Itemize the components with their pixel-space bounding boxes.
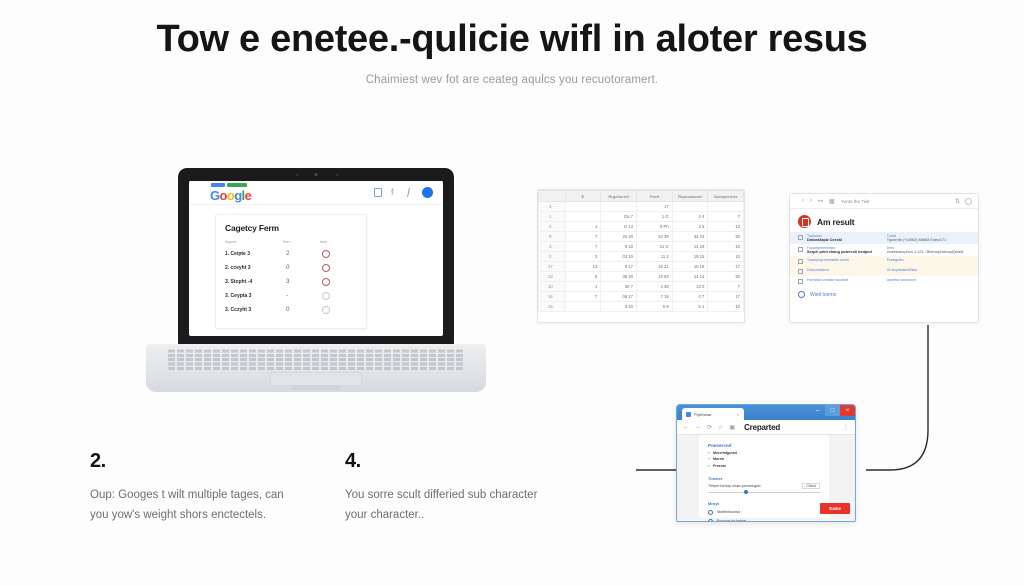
panel-row[interactable]: FococtrprbmhnbcsSeqch print zhaug poterc…	[790, 244, 978, 256]
table-cell[interactable]: 9 Ph	[636, 222, 672, 232]
row-value: Dotont3aplz Ceeckl	[807, 238, 883, 242]
chevron-right-icon[interactable]: ›	[810, 198, 812, 204]
table-cell[interactable]: 16	[539, 292, 566, 302]
table-cell[interactable]: 20	[708, 232, 744, 242]
table-cell[interactable]	[565, 212, 601, 222]
row-right: oporetun aoeocoorl	[887, 278, 970, 282]
table-cell[interactable]: 30 7	[601, 282, 637, 292]
row-key-2: Ot druplbnabnll/hbut	[887, 268, 970, 272]
table-cell[interactable]: 16 21	[636, 262, 672, 272]
table-cell[interactable]: 10	[708, 302, 744, 312]
table-cell[interactable]: 26 20	[601, 232, 637, 242]
table-cell[interactable]: 13	[539, 272, 566, 282]
table-cell[interactable]: 5	[565, 272, 601, 282]
table-cell[interactable]: 0 7	[672, 292, 708, 302]
radio-option[interactable]: Bocroce for beinet	[708, 519, 820, 523]
spreadsheet-panel[interactable]: ERrgelmrertFeetlRrpeoaneortGunrprerhrs 4…	[537, 189, 745, 323]
panel-row[interactable]: Tuaecyhqt mrerasetn covetlPueingsien	[790, 256, 978, 266]
table-cell[interactable]: 4 38	[636, 282, 672, 292]
table-cell[interactable]: 1 G	[636, 212, 672, 222]
radio-icon[interactable]	[708, 510, 713, 515]
lid-dot-right	[336, 174, 338, 176]
webcam-icon	[315, 173, 318, 176]
table-cell[interactable]: 14 19	[672, 242, 708, 252]
options-section: Mroyt Mobberloonsd ;Bocroce for beinet	[708, 501, 820, 523]
caption-number: 2.	[90, 450, 305, 473]
form-badge-icon	[798, 215, 811, 228]
row-right: Ot druplbnabnll/hbut	[887, 268, 970, 272]
table-row[interactable]: 379 1021 G14 1910	[539, 242, 744, 252]
form-row-label: 3. Ceypta 3	[225, 293, 282, 299]
panel-toolbar-right: ⇅	[955, 198, 972, 205]
list-item: Moreb	[708, 457, 820, 461]
table-cell[interactable]: 36 20	[601, 272, 637, 282]
row-value: Seqch print zhaug potercoll hedpnd	[807, 250, 883, 254]
column-header[interactable]: Gunrprerhrs	[708, 191, 744, 202]
table-cell[interactable]: 06 17	[601, 292, 637, 302]
browser-page-content: Poesercnd MecrrtstjpnsdMorebPrezore Tine…	[699, 435, 829, 518]
question-section: Tineber Tlrtrpm forrscp ckaw yemedugort …	[708, 476, 820, 493]
row-checkbox[interactable]	[798, 259, 803, 264]
list-item: Prezore	[708, 464, 820, 468]
panel-row[interactable]: Fecrnocd urnestbr woodontoporetun aoeoco…	[790, 276, 978, 286]
row-left: Tuaecyhqt mrerasetn covetl	[807, 258, 883, 262]
pencil-icon[interactable]	[407, 188, 414, 197]
form-row-label: 1. Ceipte 3	[225, 251, 282, 257]
table-cell[interactable]	[565, 202, 601, 212]
logo-letter-1: o	[220, 188, 227, 203]
circle-icon	[798, 291, 805, 298]
table-body: 4 171Ga 71 G4 4721G 139 Ph3 5138726 2034…	[539, 202, 744, 312]
form-col-0: Aupren	[225, 240, 282, 244]
table-cell[interactable]: 1	[539, 212, 566, 222]
tune-icon[interactable]: ⇅	[955, 198, 960, 205]
form-row-value: 3	[282, 279, 319, 285]
table-cell[interactable]: G 13	[601, 222, 637, 232]
table-cell[interactable]: 10	[708, 242, 744, 252]
table-cell[interactable]: 1	[565, 222, 601, 232]
reload-icon[interactable]: ⟳	[707, 424, 712, 431]
column-header[interactable]: Feetl	[636, 191, 672, 202]
panel-title: Yunto the Tixit	[841, 199, 949, 204]
table-cell[interactable]: 9 10	[601, 242, 637, 252]
radio-options: Mobberloonsd ;Bocroce for beinet	[708, 510, 820, 523]
form-rows: 1. Ceipte 322. cceyht 303. Stopht -433. …	[225, 250, 357, 314]
bookmark-star-icon[interactable]: ☆	[718, 424, 723, 431]
table-cell[interactable]: 5 1	[672, 302, 708, 312]
question-row: Tlrtrpm forrscp ckaw yemedugort Ctrhol	[708, 483, 820, 489]
form-row-radio[interactable]	[320, 306, 357, 314]
table-cell[interactable]: 2	[539, 252, 566, 262]
table-cell[interactable]: 34 38	[636, 232, 672, 242]
caption-text: Oup: Googes t wilt multiple tages, can y…	[90, 485, 305, 525]
logo-letter-0: G	[210, 188, 220, 203]
form-row-label: 3. Stopht -4	[225, 279, 282, 285]
table-cell[interactable]: 7	[708, 212, 744, 222]
caption-number: 4.	[345, 450, 560, 473]
browser-toolbar: ← → ⟳ ☆ ▣ Creparted ⋮	[677, 420, 855, 435]
table-cell[interactable]: 3	[565, 252, 601, 262]
form-row-radio[interactable]	[320, 292, 357, 300]
laptop-mockup: Google f Cagetcy Ferm Aupren Twer Aetb	[146, 168, 486, 396]
table-cell[interactable]: 13 0	[672, 282, 708, 292]
table-cell[interactable]: 8	[539, 232, 566, 242]
section-label: Tineber	[708, 476, 820, 481]
window-controls: – □ ×	[810, 405, 855, 416]
table-cell[interactable]: 17	[708, 292, 744, 302]
table-cell[interactable]: 13	[565, 262, 601, 272]
row-left: TraciononDotont3aplz Ceeckl	[807, 234, 883, 242]
avatar-icon[interactable]	[422, 187, 433, 198]
form-results-panel[interactable]: chevron-left-icon ‹ › ⚯ ▦ Yunto the Tixi…	[789, 193, 979, 323]
row-left: Doboouepincd	[807, 268, 883, 272]
panel-rows: TraciononDotont3aplz CeecklTuontlTgoernt…	[790, 232, 978, 286]
maximize-button[interactable]: □	[825, 405, 840, 416]
browser-titlebar: Prpbhmar × – □ ×	[677, 405, 855, 420]
panel-row[interactable]: TraciononDotont3aplz CeecklTuontlTgoernt…	[790, 232, 978, 244]
table-cell[interactable]: 19 54	[636, 272, 672, 282]
row-key-2: oporetun aoeocoorl	[887, 278, 970, 282]
panel-heading: Am result	[817, 217, 854, 227]
column-header[interactable]: Rrgelmrert	[601, 191, 637, 202]
row-left: FococtrprbmhnbcsSeqch print zhaug poterc…	[807, 246, 883, 254]
table-cell[interactable]: 4	[539, 202, 566, 212]
laptop-lid: Google f Cagetcy Ferm Aupren Twer Aetb	[178, 168, 454, 346]
row-key: Tuaecyhqt mrerasetn covetl	[807, 258, 883, 262]
form-row-radio[interactable]	[320, 278, 357, 286]
table-cell[interactable]: 3 5	[672, 222, 708, 232]
options-label: Mroyt	[708, 501, 820, 506]
table-cell[interactable]: 03 10	[601, 252, 637, 262]
back-icon[interactable]: ←	[683, 424, 689, 430]
minimize-button[interactable]: –	[810, 405, 825, 416]
table-cell[interactable]	[672, 202, 708, 212]
form-row[interactable]: 3. Ceypta 3-	[225, 292, 357, 300]
form-col-1: Twer	[282, 240, 319, 244]
form-col-2: Aetb	[320, 240, 357, 244]
table-row[interactable]: 16706 177 190 717	[539, 292, 744, 302]
list-item: Mecrrtstjpnsd	[708, 451, 820, 455]
browser-window[interactable]: Prpbhmar × – □ × ← → ⟳ ☆ ▣ Creparted ⋮ P…	[676, 404, 856, 522]
table-cell[interactable]: 10	[539, 282, 566, 292]
form-title: Cagetcy Ferm	[225, 223, 357, 233]
table-cell[interactable]	[708, 202, 744, 212]
column-header[interactable]	[539, 191, 566, 202]
submit-button[interactable]: Eame	[820, 503, 850, 514]
spreadsheet-table: ERrgelmrertFeetlRrpeoaneortGunrprerhrs 4…	[538, 190, 744, 312]
table-cell[interactable]: 2	[539, 222, 566, 232]
form-row-radio[interactable]	[320, 250, 357, 258]
row-key-2: Pueingsien	[887, 258, 970, 262]
row-value-2: cmeetraocphon 1-121 / Bbenopl-bboqdQbtet…	[887, 250, 970, 254]
table-row[interactable]: 1Ga 71 G4 47	[539, 212, 744, 222]
value-chip[interactable]: Ctrhol	[802, 483, 820, 489]
browser-actions: f	[374, 187, 433, 198]
table-row[interactable]: 13536 2019 5413 1420	[539, 272, 744, 282]
table-row[interactable]: 10130 74 3813 07	[539, 282, 744, 292]
caption-2: 2. Oup: Googes t wilt multiple tages, ca…	[90, 450, 305, 525]
chevron-left-glyph[interactable]: ‹	[802, 198, 804, 204]
browser-viewport: Poesercnd MecrrtstjpnsdMorebPrezore Tine…	[677, 435, 855, 521]
form-row-value: -	[282, 293, 319, 299]
table-row[interactable]: 2303 1011 219 1510	[539, 252, 744, 262]
table-cell[interactable]: 17	[636, 202, 672, 212]
page-title: Tow e enetee.-qulicie wifl in aloter res…	[0, 18, 1024, 61]
refresh-icon[interactable]	[965, 198, 972, 205]
table-header-row: ERrgelmrertFeetlRrpeoaneortGunrprerhrs	[539, 191, 744, 202]
table-row[interactable]: 8726 2034 3834 2320	[539, 232, 744, 242]
trackpad	[270, 372, 362, 386]
row-left: Fecrnocd urnestbr woodont	[807, 278, 883, 282]
table-cell[interactable]: Ga 7	[601, 212, 637, 222]
logo-letter-5: e	[245, 188, 252, 203]
table-row[interactable]: 156 105 95 110	[539, 302, 744, 312]
row-right: Pueingsien	[887, 258, 970, 262]
slide-canvas: Tow e enetee.-qulicie wifl in aloter res…	[0, 0, 1024, 585]
table-row[interactable]: 17139 1716 2110 1917	[539, 262, 744, 272]
question-text: Tlrtrpm forrscp ckaw yemedugort	[708, 484, 761, 488]
panel-row[interactable]: DoboouepincdOt druplbnabnll/hbut	[790, 266, 978, 276]
row-right: Dreocmeetraocphon 1-121 / Bbenopl-bboqdQ…	[887, 246, 970, 254]
page-subtitle: Chaimiest wev fot are ceateg aqulcs you …	[0, 74, 1024, 86]
form-row-label: 3. Cczyht 3	[225, 307, 282, 313]
table-cell[interactable]: 13	[708, 222, 744, 232]
panel-toolbar: chevron-left-icon ‹ › ⚯ ▦ Yunto the Tixi…	[790, 194, 978, 209]
page-icon[interactable]	[374, 188, 382, 197]
table-cell[interactable]	[601, 202, 637, 212]
row-right: TuontlTgoernth (*10062) 66683 Eoes/171	[887, 234, 970, 242]
google-logo: Google	[210, 188, 251, 203]
table-cell[interactable]: 13 14	[672, 272, 708, 282]
browser-tab-label: Prpbhmar	[694, 412, 734, 417]
row-checkbox[interactable]	[798, 269, 803, 274]
table-cell[interactable]: 7	[565, 292, 601, 302]
table-cell[interactable]: 7 19	[636, 292, 672, 302]
table-cell[interactable]: 11 2	[636, 252, 672, 262]
form-row-radio[interactable]	[320, 264, 357, 272]
table-cell[interactable]	[565, 302, 601, 312]
table-cell[interactable]: 4 4	[672, 212, 708, 222]
form-column-headers: Aupren Twer Aetb	[225, 240, 357, 244]
browser-tabs[interactable]	[211, 183, 247, 187]
table-cell[interactable]: 6 10	[601, 302, 637, 312]
row-key: Fecrnocd urnestbr woodont	[807, 278, 883, 282]
link-icon[interactable]: ⚯	[818, 198, 823, 205]
lid-dot-left	[296, 174, 298, 176]
form-row[interactable]: 3. Stopht -43	[225, 278, 357, 286]
laptop-base	[146, 344, 486, 392]
form-row-value: 0	[282, 265, 319, 271]
chrome-tab-icon	[686, 412, 691, 417]
laptop-screen: Google f Cagetcy Ferm Aupren Twer Aetb	[189, 181, 443, 336]
close-icon[interactable]: ×	[737, 412, 739, 417]
form-row-value: 2	[282, 251, 319, 257]
table-cell[interactable]: 7	[708, 282, 744, 292]
table-cell[interactable]: 5 9	[636, 302, 672, 312]
radio-label: Mobberloonsd ;	[717, 510, 742, 514]
radio-icon[interactable]	[708, 519, 713, 523]
close-button[interactable]: ×	[840, 405, 855, 416]
google-form-card: Cagetcy Ferm Aupren Twer Aetb 1. Ceipte …	[215, 214, 367, 329]
table-cell[interactable]: 20	[708, 272, 744, 282]
form-row-label: 2. cceyht 3	[225, 265, 282, 271]
caption-4: 4. You sorre scult differied sub charact…	[345, 450, 560, 525]
column-header[interactable]: E	[565, 191, 601, 202]
bookmark-icon[interactable]: f	[391, 188, 399, 197]
panel-header: Am result	[790, 209, 978, 232]
table-cell[interactable]: 17	[539, 262, 566, 272]
panel-footer-label: Wielt toems	[810, 292, 836, 298]
form-row[interactable]: 1. Ceipte 32	[225, 250, 357, 258]
form-row[interactable]: 3. Cczyht 30	[225, 306, 357, 314]
menu-icon[interactable]: ⋮	[843, 424, 849, 431]
table-cell[interactable]: 3	[539, 242, 566, 252]
grid-icon[interactable]: ▦	[829, 198, 835, 205]
row-checkbox[interactable]	[798, 247, 803, 252]
table-cell[interactable]: 21 G	[636, 242, 672, 252]
table-cell[interactable]: 9 17	[601, 262, 637, 272]
table-row[interactable]: 4 17	[539, 202, 744, 212]
table-cell[interactable]: 10 19	[672, 262, 708, 272]
keyboard	[168, 348, 464, 370]
column-header[interactable]: Rrpeoaneort	[672, 191, 708, 202]
table-row[interactable]: 21G 139 Ph3 513	[539, 222, 744, 232]
bullet-list: MecrrtstjpnsdMorebPrezore	[708, 451, 820, 468]
table-cell[interactable]: 7	[565, 232, 601, 242]
radio-label: Bocroce for beinet	[717, 519, 746, 522]
table-cell[interactable]: 15	[539, 302, 566, 312]
table-cell[interactable]: 34 23	[672, 232, 708, 242]
slider-handle[interactable]	[744, 490, 748, 494]
page-heading: Poesercnd	[708, 443, 820, 448]
caption-text: You sorre scult differied sub character …	[345, 485, 560, 525]
browser-tab[interactable]: Prpbhmar ×	[682, 408, 744, 420]
table-cell[interactable]: 19 15	[672, 252, 708, 262]
radio-option[interactable]: Mobberloonsd ;	[708, 510, 820, 515]
table-cell[interactable]: 1	[565, 282, 601, 292]
table-cell[interactable]: 17	[708, 262, 744, 272]
form-row-value: 0	[282, 307, 319, 313]
row-checkbox[interactable]	[798, 235, 803, 240]
form-row[interactable]: 2. cceyht 30	[225, 264, 357, 272]
row-value-2: Tgoernth (*10062) 66683 Eoes/171	[887, 238, 970, 242]
table-cell[interactable]: 7	[565, 242, 601, 252]
google-browser-bar: Google f	[189, 181, 443, 205]
forward-icon[interactable]: →	[695, 424, 701, 430]
panel-footer[interactable]: Wielt toems	[790, 286, 978, 303]
slider[interactable]	[708, 492, 820, 493]
row-key: Doboouepincd	[807, 268, 883, 272]
browser-page-title: Creparted	[744, 423, 780, 432]
logo-letter-3: g	[234, 188, 241, 203]
table-cell[interactable]: 10	[708, 252, 744, 262]
row-checkbox[interactable]	[798, 279, 803, 284]
shield-icon[interactable]: ▣	[729, 424, 735, 431]
